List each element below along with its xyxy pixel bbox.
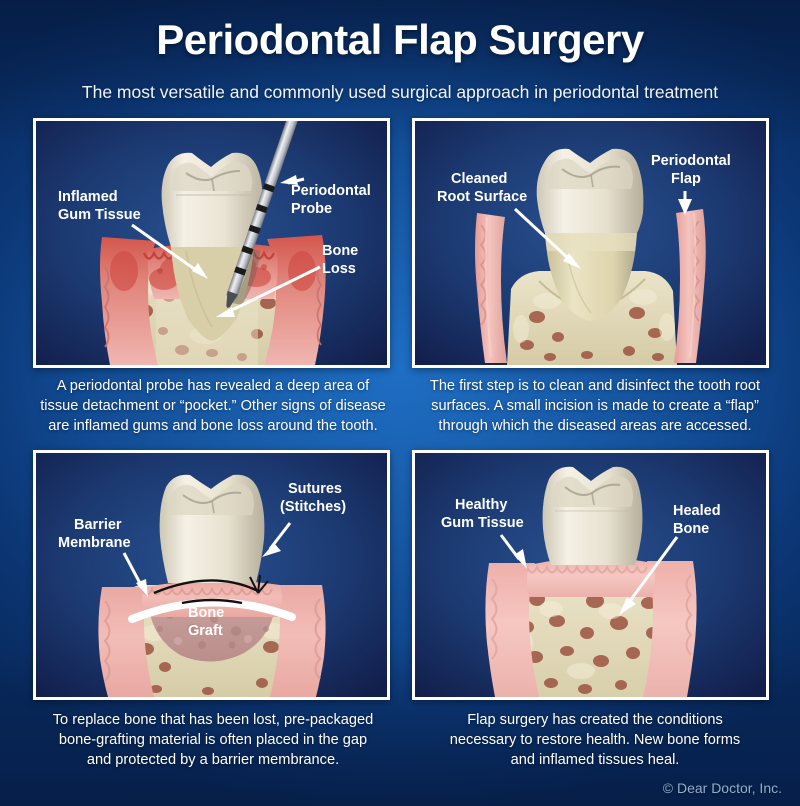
label-line: (Stitches) [280, 499, 346, 515]
label-line: Cleaned [451, 171, 507, 187]
caption-line: are inflamed gums and bone loss around t… [18, 416, 408, 436]
page-title: Periodontal Flap Surgery [0, 16, 800, 64]
label-line: Probe [291, 201, 332, 217]
caption-line: and protected by a barrier membrance. [18, 750, 408, 770]
label-line: Flap [671, 171, 701, 187]
label-line: Sutures [288, 481, 342, 497]
label-line: Healed [673, 503, 721, 519]
caption-line: surfaces. A small incision is made to cr… [398, 396, 792, 416]
page-subtitle: The most versatile and commonly used sur… [0, 82, 800, 103]
panel-illustration: Cleaned Root Surface Periodontal Flap [415, 121, 766, 365]
label-line: Loss [322, 261, 356, 277]
copyright-credit: © Dear Doctor, Inc. [663, 780, 782, 796]
caption-line: Flap surgery has created the conditions [398, 710, 792, 730]
panel-healed: Healthy Gum Tissue Healed Bone [412, 450, 769, 700]
panel-diagnosis: Inflamed Gum Tissue Periodontal Probe [33, 118, 390, 368]
caption-line: tissue detachment or “pocket.” Other sig… [18, 396, 408, 416]
label-line: Healthy [455, 497, 507, 513]
panel-bone-graft: Barrier Membrane Sutures (Stitches) [33, 450, 390, 700]
panel-frame: Inflamed Gum Tissue Periodontal Probe [33, 118, 390, 368]
panel-illustration: Healthy Gum Tissue Healed Bone [415, 453, 766, 697]
panel-frame: Healthy Gum Tissue Healed Bone [412, 450, 769, 700]
caption-line: The first step is to clean and disinfect… [398, 376, 792, 396]
panel-flap-access: Cleaned Root Surface Periodontal Flap [412, 118, 769, 368]
label-line: Bone [673, 521, 709, 537]
panel-illustration: Barrier Membrane Sutures (Stitches) [36, 453, 387, 697]
label-line: Barrier [74, 517, 122, 533]
infographic-content: Periodontal Flap Surgery The most versat… [0, 0, 800, 806]
label-line: Membrane [58, 535, 131, 551]
caption-line: bone-grafting material is often placed i… [18, 730, 408, 750]
label-line: Periodontal [651, 153, 731, 169]
label-line: Graft [188, 623, 223, 639]
caption-line: To replace bone that has been lost, pre-… [18, 710, 408, 730]
panel-caption-flap-access: The first step is to clean and disinfect… [398, 376, 792, 436]
caption-line: through which the diseased areas are acc… [398, 416, 792, 436]
panel-illustration: Inflamed Gum Tissue Periodontal Probe [36, 121, 387, 365]
label-line: Bone [188, 605, 224, 621]
label-line: Gum Tissue [58, 207, 141, 223]
panel-frame: Barrier Membrane Sutures (Stitches) [33, 450, 390, 700]
panel-caption-diagnosis: A periodontal probe has revealed a deep … [18, 376, 408, 436]
label-line: Bone [322, 243, 358, 259]
panel-caption-bone-graft: To replace bone that has been lost, pre-… [18, 710, 408, 770]
label-line: Root Surface [437, 189, 527, 205]
panel-caption-healed: Flap surgery has created the conditions … [398, 710, 792, 770]
caption-line: and inflamed tissues heal. [398, 750, 792, 770]
label-line: Periodontal [291, 183, 371, 199]
caption-line: A periodontal probe has revealed a deep … [18, 376, 408, 396]
label-line: Gum Tissue [441, 515, 524, 531]
panel-frame: Cleaned Root Surface Periodontal Flap [412, 118, 769, 368]
label-line: Inflamed [58, 189, 118, 205]
caption-line: necessary to restore health. New bone fo… [398, 730, 792, 750]
